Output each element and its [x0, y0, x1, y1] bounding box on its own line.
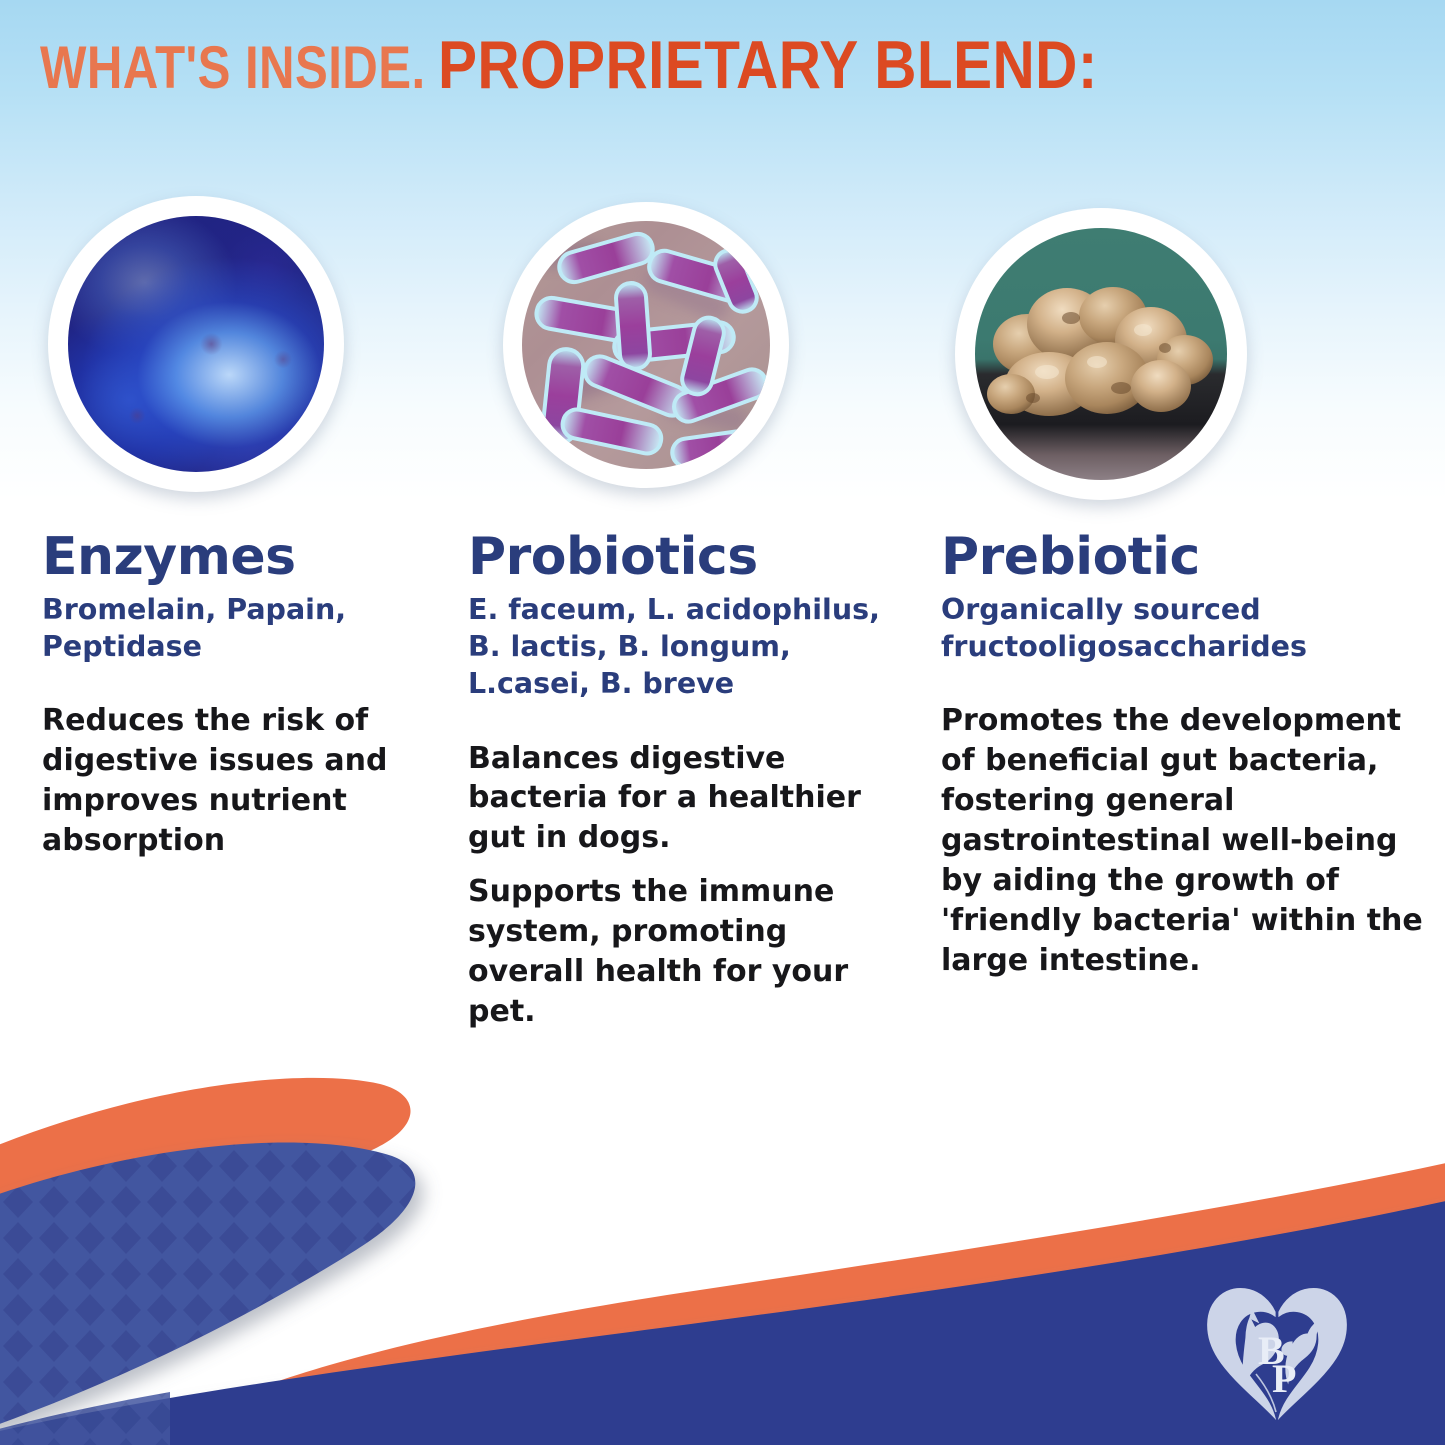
- enzymes-subtitle: Bromelain, Papain, Peptidase: [42, 591, 414, 666]
- page-title-emphasis: PROPRIETARY BLEND:: [438, 26, 1098, 104]
- probiotics-subtitle: E. faceum, L. acidophilus, B. lactis, B.…: [468, 591, 882, 703]
- probiotics-body-2: Supports the immune system, promoting ov…: [468, 872, 882, 1032]
- blueberries-photo: [68, 216, 324, 472]
- pet-heart-logo: B P: [1192, 1272, 1362, 1422]
- prebiotic-image-circle: [955, 208, 1247, 500]
- column-enzymes: Enzymes Bromelain, Papain, Peptidase Red…: [42, 530, 414, 861]
- page-title: WHAT'S INSIDE. PROPRIETARY BLEND:: [40, 26, 1205, 104]
- enzymes-body-1: Reduces the risk of digestive issues and…: [42, 701, 414, 861]
- jerusalem-artichoke-photo: [975, 228, 1227, 480]
- enzymes-title: Enzymes: [42, 530, 414, 585]
- prebiotic-subtitle: Organically sourced fructooligosaccharid…: [941, 591, 1433, 666]
- bacteria-micrograph-photo: [522, 221, 770, 469]
- enzymes-image-circle: [48, 196, 344, 492]
- infographic-page: WHAT'S INSIDE. PROPRIETARY BLEND:: [0, 0, 1445, 1445]
- prebiotic-title: Prebiotic: [941, 530, 1433, 585]
- probiotics-image-circle: [503, 202, 789, 488]
- probiotics-body-1: Balances digestive bacteria for a health…: [468, 739, 882, 859]
- probiotics-title: Probiotics: [468, 530, 882, 585]
- column-probiotics: Probiotics E. faceum, L. acidophilus, B.…: [468, 530, 882, 1032]
- prebiotic-body-1: Promotes the development of beneficial g…: [941, 701, 1433, 980]
- logo-monogram-p: P: [1272, 1356, 1296, 1401]
- page-title-lead: WHAT'S INSIDE.: [40, 33, 426, 102]
- column-prebiotic: Prebiotic Organically sourced fructoolig…: [941, 530, 1433, 980]
